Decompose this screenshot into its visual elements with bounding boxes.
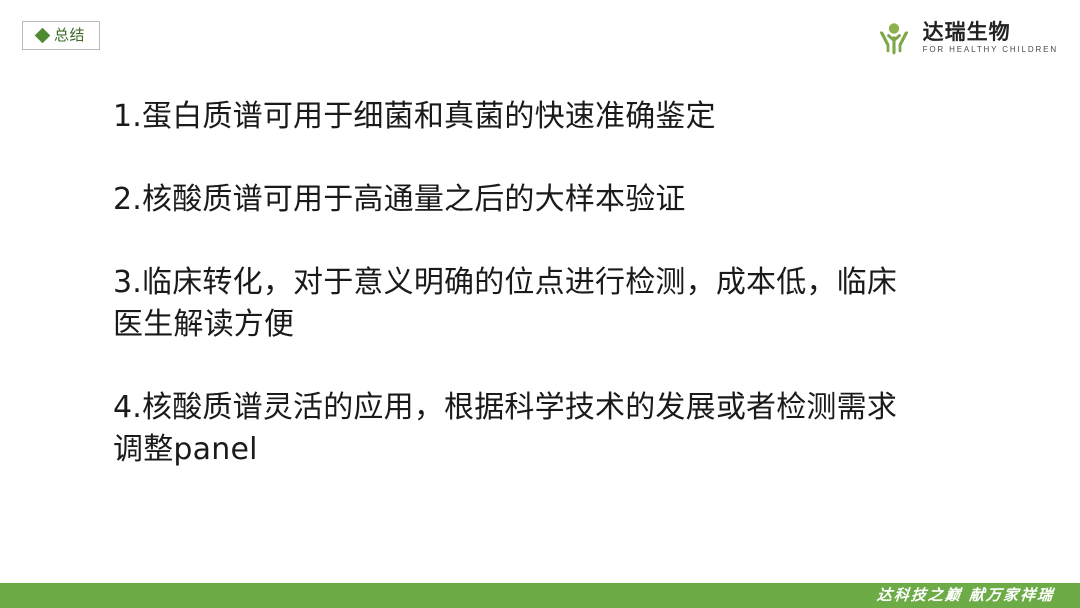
summary-point-3: 3.临床转化，对于意义明确的位点进行检测，成本低，临床医生解读方便 xyxy=(113,262,918,346)
slide-canvas: 总结 达瑞生物 FOR HEALTHY CHILDREN 1.蛋白质谱可用于细菌… xyxy=(0,0,1080,608)
footer-slogan: 达科技之巅 献万家祥瑞 xyxy=(876,588,1055,603)
logo-wordmark: 达瑞生物 FOR HEALTHY CHILDREN xyxy=(923,21,1058,55)
summary-point-4: 4.核酸质谱灵活的应用，根据科学技术的发展或者检测需求调整panel xyxy=(113,387,918,471)
summary-points-list: 1.蛋白质谱可用于细菌和真菌的快速准确鉴定 2.核酸质谱可用于高通量之后的大样本… xyxy=(113,96,993,471)
summary-point-2: 2.核酸质谱可用于高通量之后的大样本验证 xyxy=(113,179,993,221)
summary-point-1: 1.蛋白质谱可用于细菌和真菌的快速准确鉴定 xyxy=(113,96,993,138)
logo-tagline: FOR HEALTHY CHILDREN xyxy=(923,45,1058,55)
diamond-icon xyxy=(35,28,51,44)
logo-company-name: 达瑞生物 xyxy=(923,21,1011,43)
footer-bar: 达科技之巅 献万家祥瑞 xyxy=(0,583,1080,608)
company-logo: 达瑞生物 FOR HEALTHY CHILDREN xyxy=(874,16,1058,60)
person-raised-arms-icon xyxy=(874,18,914,58)
section-badge: 总结 xyxy=(22,21,100,50)
section-badge-label: 总结 xyxy=(54,28,85,43)
